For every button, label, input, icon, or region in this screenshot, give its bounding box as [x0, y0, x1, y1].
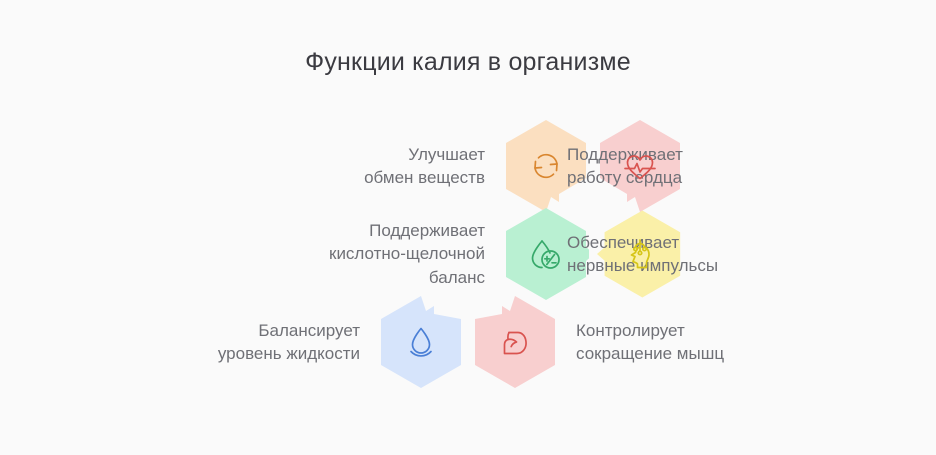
label-acid-base: Поддерживает кислотно-щелочной баланс	[253, 219, 503, 289]
hex-item-metabolism[interactable]	[503, 118, 589, 214]
diagram-row-3: Балансирует уровень жидкости	[0, 294, 936, 390]
diagram-row-2: Поддерживает кислотно-щелочной баланс	[0, 206, 936, 302]
label-metabolism: Улучшает обмен веществ	[253, 143, 503, 190]
recycle-arrows-icon	[526, 146, 566, 186]
head-neuron-icon	[620, 234, 660, 274]
hexagon-diagram: Улучшает обмен веществ	[0, 112, 936, 402]
label-fluid-level: Балансирует уровень жидкости	[128, 319, 378, 366]
label-muscle-contraction: Контролирует сокращение мышц	[558, 319, 808, 366]
heart-pulse-icon	[620, 146, 660, 186]
hex-item-fluid-level[interactable]	[378, 294, 464, 390]
page-title: Функции калия в организме	[0, 48, 936, 77]
water-drop-icon	[401, 322, 441, 362]
hex-item-acid-base[interactable]	[503, 206, 589, 302]
hex-item-heart[interactable]	[597, 118, 683, 214]
diagram-row-1: Улучшает обмен веществ	[0, 118, 936, 214]
hex-item-nerve-impulses[interactable]	[597, 206, 683, 302]
flexed-biceps-icon	[495, 322, 535, 362]
infographic-page: Функции калия в организме Улучшает обмен…	[0, 0, 936, 455]
droplet-plus-minus-icon	[526, 234, 566, 274]
hex-item-muscle-contraction[interactable]	[472, 294, 558, 390]
